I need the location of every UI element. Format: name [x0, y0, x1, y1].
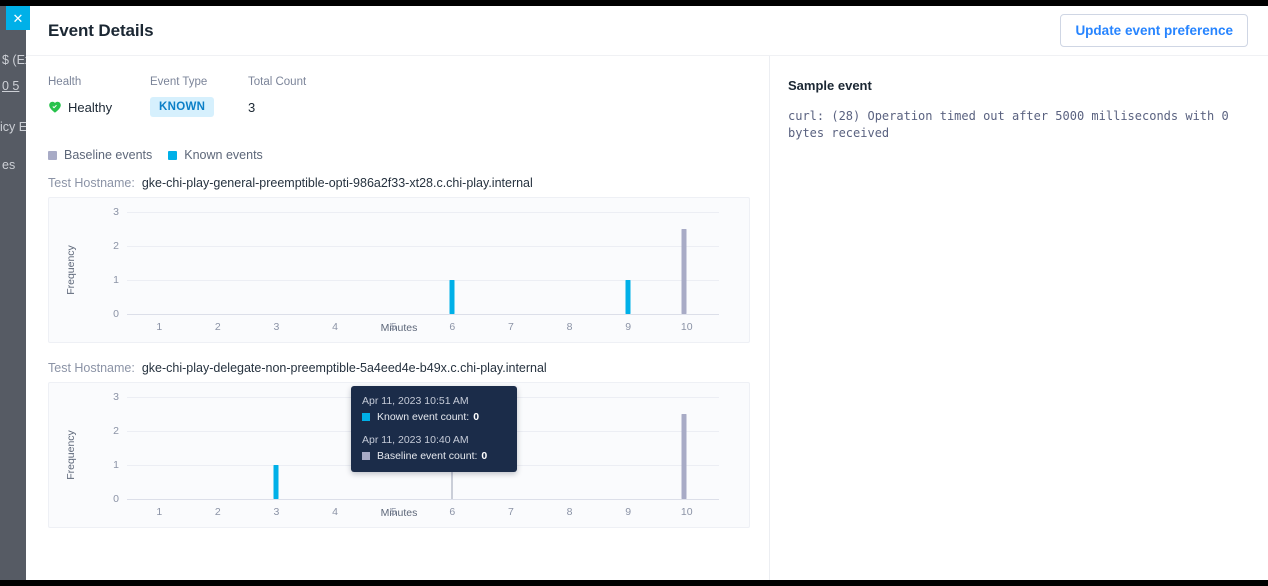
x-axis-tick-label: 2 [215, 506, 221, 518]
background-text-fragment: 0 5 [2, 79, 19, 93]
x-axis-tick-label: 2 [215, 321, 221, 333]
meta-total-count: Total Count 3 [248, 76, 306, 118]
x-axis-tick-label: 7 [508, 321, 514, 333]
legend-swatch-icon [168, 151, 177, 160]
y-axis-tick-label: 3 [113, 391, 119, 403]
page-root: $ (Ex0 5icy Ees ✕ Event Details Update e… [0, 0, 1268, 586]
background-text-fragment: icy E [0, 120, 27, 134]
modal-body: Health Healthy Event Ty [26, 56, 1268, 580]
chart-bar[interactable] [274, 465, 279, 499]
meta-event-type-label: Event Type [150, 76, 222, 88]
page-title: Event Details [48, 21, 153, 41]
meta-event-type-value-wrap: KNOWN [150, 96, 222, 118]
tooltip-series-label: Baseline event count: [377, 450, 477, 462]
chart-panel[interactable]: FrequencyMinutes012312345678910 [48, 197, 750, 343]
x-axis-tick-label: 5 [391, 321, 397, 333]
sample-event-title: Sample event [788, 78, 1244, 93]
tooltip-timestamp: Apr 11, 2023 10:51 AM [362, 395, 506, 407]
x-axis-title: Minutes [49, 507, 749, 519]
y-axis-tick-label: 3 [113, 206, 119, 218]
x-axis-tick-label: 6 [449, 321, 455, 333]
x-axis-tick-label: 1 [156, 506, 162, 518]
chart-block: Test Hostname:gke-chi-play-general-preem… [48, 176, 769, 343]
tooltip-row: Baseline event count:0 [362, 450, 506, 462]
meta-health-value: Healthy [68, 100, 112, 115]
chart-bar[interactable] [450, 280, 455, 314]
modal-header: Event Details Update event preference [26, 6, 1268, 56]
right-pane: Sample event curl: (28) Operation timed … [770, 56, 1268, 580]
y-axis-tick-label: 1 [113, 274, 119, 286]
charts-container: Test Hostname:gke-chi-play-general-preem… [48, 176, 769, 528]
x-axis-tick-label: 4 [332, 321, 338, 333]
y-axis-tick-label: 2 [113, 425, 119, 437]
background-text-fragment: es [2, 158, 15, 172]
left-pane: Health Healthy Event Ty [26, 56, 770, 580]
sample-event-body: curl: (28) Operation timed out after 500… [788, 108, 1233, 143]
chart-panel[interactable]: FrequencyMinutes012312345678910Apr 11, 2… [48, 382, 750, 528]
chart-bar[interactable] [626, 280, 631, 314]
y-axis-tick-label: 0 [113, 493, 119, 505]
x-axis-tick-label: 4 [332, 506, 338, 518]
hostname-row: Test Hostname:gke-chi-play-general-preem… [48, 176, 769, 190]
legend-swatch-icon [48, 151, 57, 160]
x-axis-tick-label: 3 [274, 321, 280, 333]
legend-item[interactable]: Known events [168, 148, 263, 162]
close-icon[interactable]: ✕ [6, 6, 30, 30]
x-axis-tick-label: 1 [156, 321, 162, 333]
y-axis-title: Frequency [65, 430, 77, 480]
chart-tooltip: Apr 11, 2023 10:51 AMKnown event count:0… [351, 386, 517, 472]
gridline: 3 [127, 212, 719, 213]
hostname-value: gke-chi-play-general-preemptible-opti-98… [142, 176, 533, 190]
tooltip-swatch-icon [362, 413, 370, 421]
gridline: 2 [127, 246, 719, 247]
heart-health-icon [48, 100, 62, 114]
x-axis-tick-label: 9 [625, 506, 631, 518]
y-axis-tick-label: 0 [113, 308, 119, 320]
tooltip-row: Known event count:0 [362, 411, 506, 423]
x-axis-tick-label: 7 [508, 506, 514, 518]
x-axis-tick-label: 10 [681, 506, 693, 518]
tooltip-series-label: Known event count: [377, 411, 469, 423]
x-axis-tick-label: 3 [274, 506, 280, 518]
x-axis-tick-label: 8 [567, 321, 573, 333]
meta-health-value-wrap: Healthy [48, 96, 124, 118]
x-axis-title: Minutes [49, 322, 749, 334]
tooltip-swatch-icon [362, 452, 370, 460]
status-badge: KNOWN [150, 97, 214, 117]
tooltip-series-value: 0 [481, 450, 487, 462]
gridline: 0 [127, 314, 719, 315]
chart-legend: Baseline eventsKnown events [48, 148, 769, 162]
event-meta-row: Health Healthy Event Ty [48, 76, 769, 118]
update-event-preference-button[interactable]: Update event preference [1060, 14, 1248, 47]
hostname-label: Test Hostname: [48, 361, 135, 375]
chart-bar[interactable] [681, 414, 686, 499]
x-axis-tick-label: 10 [681, 321, 693, 333]
chart-bar[interactable] [681, 229, 686, 314]
tooltip-group: Apr 11, 2023 10:40 AMBaseline event coun… [362, 434, 506, 462]
tooltip-group: Apr 11, 2023 10:51 AMKnown event count:0 [362, 395, 506, 423]
meta-health-label: Health [48, 76, 124, 88]
tooltip-timestamp: Apr 11, 2023 10:40 AM [362, 434, 506, 446]
y-axis-title: Frequency [65, 245, 77, 295]
event-details-modal: Event Details Update event preference He… [26, 6, 1268, 580]
meta-total-count-value: 3 [248, 96, 306, 118]
meta-event-type: Event Type KNOWN [150, 76, 222, 118]
plot-area[interactable]: 012312345678910 [127, 212, 719, 314]
x-axis-tick-label: 5 [391, 506, 397, 518]
y-axis-tick-label: 1 [113, 459, 119, 471]
meta-health: Health Healthy [48, 76, 124, 118]
gridline: 0 [127, 499, 719, 500]
tooltip-series-value: 0 [473, 411, 479, 423]
legend-item[interactable]: Baseline events [48, 148, 152, 162]
x-axis-tick-label: 6 [449, 506, 455, 518]
hostname-value: gke-chi-play-delegate-non-preemptible-5a… [142, 361, 547, 375]
hostname-label: Test Hostname: [48, 176, 135, 190]
meta-total-count-label: Total Count [248, 76, 306, 88]
legend-item-label: Baseline events [64, 148, 152, 162]
hostname-row: Test Hostname:gke-chi-play-delegate-non-… [48, 361, 769, 375]
x-axis-tick-label: 8 [567, 506, 573, 518]
legend-item-label: Known events [184, 148, 263, 162]
chart-block: Test Hostname:gke-chi-play-delegate-non-… [48, 361, 769, 528]
x-axis-tick-label: 9 [625, 321, 631, 333]
y-axis-tick-label: 2 [113, 240, 119, 252]
